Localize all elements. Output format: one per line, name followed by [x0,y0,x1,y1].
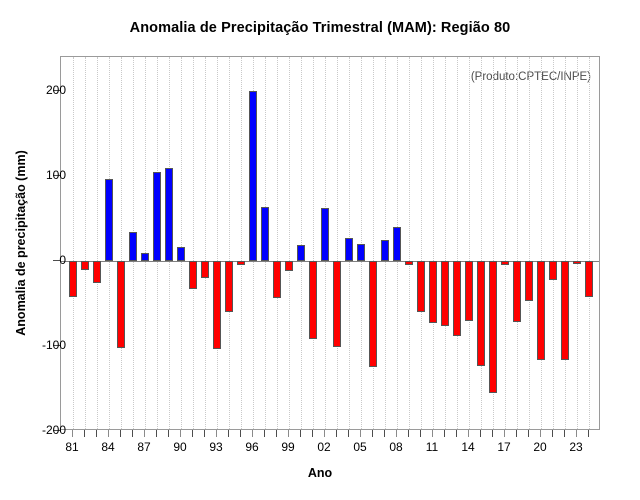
bar [345,238,352,261]
x-tick-mark [204,430,205,437]
x-tick-label: 02 [304,440,344,454]
bar [321,208,328,261]
bar [225,261,232,312]
bar [273,261,280,298]
x-tick-mark [144,430,145,437]
bar [285,261,292,271]
gridline [97,57,98,429]
x-tick-mark [300,430,301,437]
bar [141,253,148,262]
bar [417,261,424,312]
x-tick-mark [324,430,325,437]
bar [393,227,400,261]
gridline [193,57,194,429]
gridline [145,57,146,429]
x-tick-mark [480,430,481,437]
bar [441,261,448,326]
x-tick-label: 90 [160,440,200,454]
x-tick-mark [540,430,541,437]
gridline [529,57,530,429]
x-tick-mark [312,430,313,437]
x-tick-mark [216,430,217,437]
x-tick-mark [564,430,565,437]
x-tick-label: 14 [448,440,488,454]
x-tick-mark [360,430,361,437]
x-tick-mark [576,430,577,437]
x-tick-mark [276,430,277,437]
x-tick-mark [264,430,265,437]
x-tick-mark [504,430,505,437]
bar [237,261,244,265]
x-tick-mark [156,430,157,437]
x-tick-label: 11 [412,440,452,454]
gridline [313,57,314,429]
gridline [277,57,278,429]
bar [489,261,496,393]
chart-title: Anomalia de Precipitação Trimestral (MAM… [0,20,640,36]
x-tick-label: 17 [484,440,524,454]
x-tick-label: 93 [196,440,236,454]
bar [429,261,436,323]
gridline [589,57,590,429]
x-tick-mark [252,430,253,437]
bar [513,261,520,322]
x-tick-mark [180,430,181,437]
gridline [553,57,554,429]
x-tick-label: 81 [52,440,92,454]
gridline [289,57,290,429]
x-tick-label: 05 [340,440,380,454]
gridline [121,57,122,429]
bar [525,261,532,301]
bar [153,172,160,261]
bar [357,244,364,261]
bar [297,245,304,261]
x-tick-mark [444,430,445,437]
bar [369,261,376,367]
bar [105,179,112,261]
bar [261,207,268,261]
x-tick-label: 99 [268,440,308,454]
x-tick-label: 20 [520,440,560,454]
gridline [241,57,242,429]
gridline [409,57,410,429]
gridline [469,57,470,429]
x-tick-label: 96 [232,440,272,454]
bar [201,261,208,278]
gridline [433,57,434,429]
gridline [577,57,578,429]
bar [405,261,412,265]
bar [381,240,388,261]
bar [213,261,220,349]
x-tick-mark [420,430,421,437]
x-tick-mark [288,430,289,437]
gridline [481,57,482,429]
bar [333,261,340,347]
x-tick-mark [432,430,433,437]
bar [573,261,580,264]
gridline [517,57,518,429]
bar [189,261,196,289]
x-tick-mark [408,430,409,437]
x-tick-mark [372,430,373,437]
bar [93,261,100,283]
gridline [565,57,566,429]
x-tick-mark [336,430,337,437]
x-tick-mark [588,430,589,437]
bar [549,261,556,280]
bar [165,168,172,261]
gridline [85,57,86,429]
x-tick-label: 23 [556,440,596,454]
x-tick-mark [108,430,109,437]
x-tick-mark [120,430,121,437]
x-tick-mark [492,430,493,437]
gridline [181,57,182,429]
x-tick-mark [240,430,241,437]
x-tick-mark [552,430,553,437]
x-tick-mark [516,430,517,437]
bar [81,261,88,270]
bar [465,261,472,321]
x-tick-label: 84 [88,440,128,454]
x-tick-mark [396,430,397,437]
x-tick-mark [84,430,85,437]
gridline [217,57,218,429]
x-tick-label: 08 [376,440,416,454]
x-tick-mark [132,430,133,437]
gridline [361,57,362,429]
x-tick-mark [348,430,349,437]
chart-container: Anomalia de Precipitação Trimestral (MAM… [0,0,640,500]
gridline [73,57,74,429]
x-axis-label: Ano [0,466,640,480]
x-tick-mark [96,430,97,437]
x-tick-mark [528,430,529,437]
bar [177,247,184,261]
bar [477,261,484,366]
gridline [205,57,206,429]
x-tick-mark [72,430,73,437]
gridline [229,57,230,429]
bar [69,261,76,297]
bar [501,261,508,265]
gridline [445,57,446,429]
bar [309,261,316,339]
bar [129,232,136,261]
x-tick-label: 87 [124,440,164,454]
gridline [541,57,542,429]
gridline [505,57,506,429]
gridline [373,57,374,429]
x-tick-mark [384,430,385,437]
gridline [337,57,338,429]
bar [117,261,124,348]
bar [537,261,544,360]
x-tick-mark [168,430,169,437]
x-tick-mark [468,430,469,437]
x-tick-mark [456,430,457,437]
bar [453,261,460,336]
bar [585,261,592,297]
bar [249,91,256,261]
gridline [457,57,458,429]
x-tick-mark [192,430,193,437]
gridline [301,57,302,429]
produto-annotation: (Produto:CPTEC/INPE) [471,71,591,83]
x-tick-mark [228,430,229,437]
plot-area: (Produto:CPTEC/INPE) [60,56,600,430]
bar [561,261,568,360]
y-axis-label: Anomalia de precipitação (mm) [14,56,32,430]
gridline [421,57,422,429]
